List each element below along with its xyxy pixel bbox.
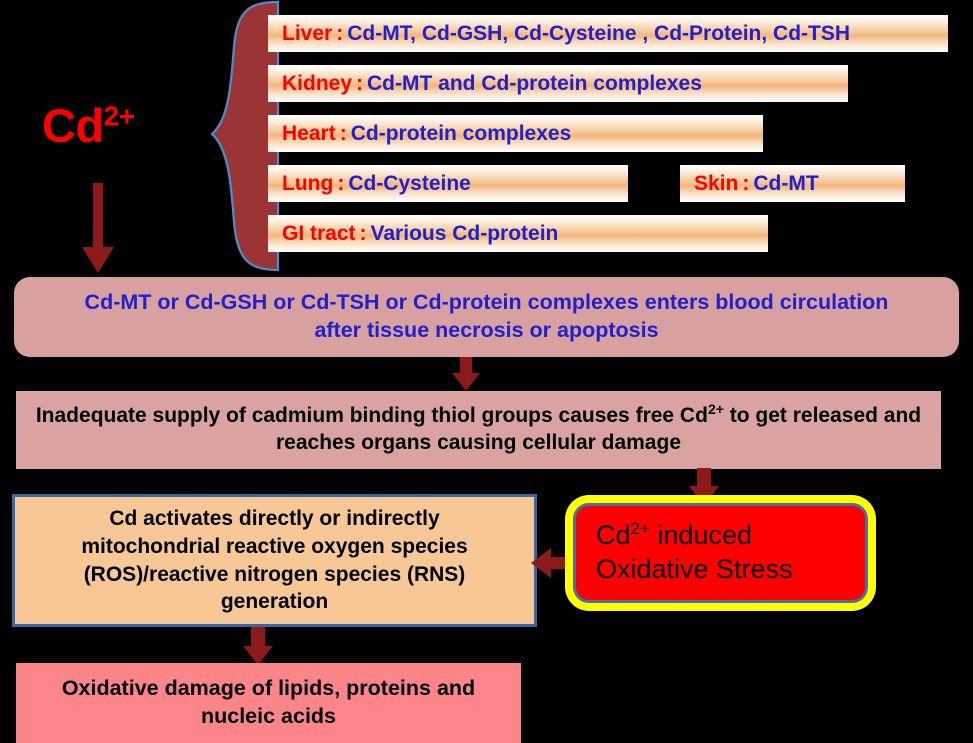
organ-row-kidney: Kidney:Cd-MT and Cd-protein complexes <box>268 65 848 102</box>
organ-name: Heart <box>282 122 336 146</box>
organ-name: Liver <box>282 22 332 46</box>
box-cd-induced-oxidative-stress: Cd2+ induced Oxidative Stress <box>573 503 868 603</box>
blood-line-1: Cd-MT or Cd-GSH or Cd-TSH or Cd-protein … <box>85 290 889 314</box>
cd-source-label: Cd2+ <box>42 102 135 149</box>
ros-line-3: (ROS)/reactive nitrogen species (RNS) <box>84 563 466 586</box>
organ-name: Kidney <box>282 72 352 96</box>
stress-line-2: Oxidative Stress <box>596 554 793 584</box>
organ-separator: : <box>352 72 367 96</box>
blood-line-2: after tissue necrosis or apoptosis <box>314 318 658 342</box>
organ-row-lung: Lung:Cd-Cysteine <box>268 165 628 202</box>
organ-separator: : <box>738 172 753 196</box>
organ-row-heart: Heart:Cd-protein complexes <box>268 115 763 152</box>
organ-value: Cd-protein complexes <box>351 122 572 146</box>
organ-row-skin: Skin:Cd-MT <box>680 165 905 202</box>
organ-value: Cd-MT and Cd-protein complexes <box>367 72 702 96</box>
stress-charge: 2+ <box>631 519 650 538</box>
diagram-canvas: Cd2+ Liver:Cd-MT, Cd-GSH, Cd-Cysteine , … <box>0 0 973 743</box>
organ-separator: : <box>336 122 351 146</box>
organ-row-gi-tract: GI tract:Various Cd-protein <box>268 215 768 252</box>
inadequate-part-1: Inadequate supply of cadmium binding thi… <box>36 404 708 427</box>
organ-value: Cd-Cysteine <box>348 172 471 196</box>
damage-line-1: Oxidative damage of lipids, proteins and <box>62 676 475 700</box>
box-ros-rns-generation: Cd activates directly or indirectly mito… <box>12 494 537 627</box>
cd-source-text: Cd <box>42 99 104 152</box>
arrow-stress-to-ros <box>531 546 577 585</box>
stress-prefix: Cd <box>596 520 631 550</box>
stress-suffix: induced <box>650 520 752 550</box>
ros-line-4: generation <box>221 590 328 613</box>
ros-line-1: Cd activates directly or indirectly <box>109 507 439 530</box>
organ-separator: : <box>356 222 371 246</box>
box-blood-circulation: Cd-MT or Cd-GSH or Cd-TSH or Cd-protein … <box>14 277 959 357</box>
organ-value: Cd-MT <box>753 172 818 196</box>
box-inadequate-thiol-supply: Inadequate supply of cadmium binding thi… <box>16 391 941 469</box>
cd-source-charge: 2+ <box>104 100 135 131</box>
organ-value: Cd-MT, Cd-GSH, Cd-Cysteine , Cd-Protein,… <box>347 22 850 46</box>
organ-name: Lung <box>282 172 333 196</box>
organ-separator: : <box>332 22 347 46</box>
damage-line-2: nucleic acids <box>201 704 336 728</box>
box-oxidative-damage: Oxidative damage of lipids, proteins and… <box>16 663 521 743</box>
organ-separator: : <box>333 172 348 196</box>
organ-name: Skin <box>694 172 738 196</box>
inadequate-charge: 2+ <box>708 401 724 417</box>
ros-line-2: mitochondrial reactive oxygen species <box>81 535 467 558</box>
organ-name: GI tract <box>282 222 356 246</box>
organ-row-liver: Liver:Cd-MT, Cd-GSH, Cd-Cysteine , Cd-Pr… <box>268 15 948 52</box>
arrow-cd-to-blood <box>74 183 122 280</box>
organ-value: Various Cd-protein <box>371 222 559 246</box>
